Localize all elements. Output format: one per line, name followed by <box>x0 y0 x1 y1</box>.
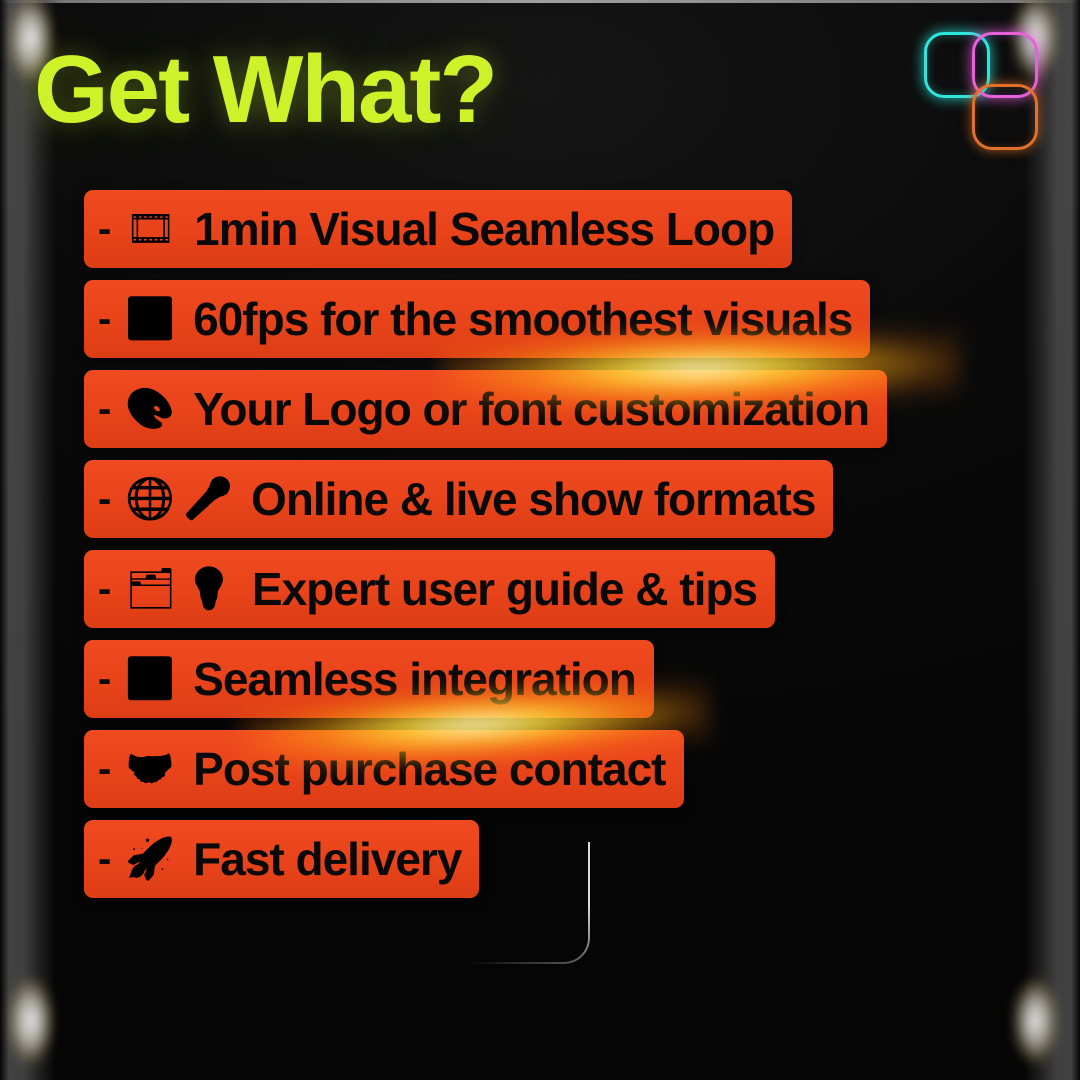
palette-icon: 🎨 <box>125 389 175 429</box>
film-strip-icon: 🎞 <box>125 209 176 249</box>
bullet-dash: - <box>98 209 111 249</box>
top-hairline <box>0 0 1080 3</box>
feature-row: -🎨Your Logo or font customization <box>84 370 887 448</box>
globe-icon: 🌐 <box>125 479 175 519</box>
feature-label: Post purchase contact <box>193 746 665 792</box>
bullet-dash: - <box>98 389 111 429</box>
feature-label: Seamless integration <box>193 656 636 702</box>
bullet-dash: - <box>98 299 111 339</box>
handshake-icon: 🤝 <box>125 749 175 789</box>
microphone-icon: 🎤 <box>183 479 233 519</box>
feature-row: -🌐🎤Online & live show formats <box>84 460 833 538</box>
bullet-dash: - <box>98 839 111 879</box>
feature-label: Fast delivery <box>193 836 461 882</box>
left-edge-strip <box>0 0 56 1080</box>
feature-label: 1min Visual Seamless Loop <box>194 206 774 252</box>
bullet-dash: - <box>98 749 111 789</box>
feature-row: -🗂💡Expert user guide & tips <box>84 550 775 628</box>
fast-forward-icon: ⏩ <box>125 299 175 339</box>
corner-glow-bottom-right <box>1012 978 1058 1064</box>
feature-row: -🤝Post purchase contact <box>84 730 684 808</box>
poster-canvas: Get What? -🎞1min Visual Seamless Loop-⏩6… <box>0 0 1080 1080</box>
feature-row: -🔀Seamless integration <box>84 640 654 718</box>
bullet-dash: - <box>98 659 111 699</box>
feature-label: Expert user guide & tips <box>252 566 757 612</box>
corner-glow-bottom-left <box>8 978 54 1064</box>
bullet-dash: - <box>98 569 111 609</box>
feature-label: 60fps for the smoothest visuals <box>193 296 852 342</box>
ring-orange-icon <box>972 84 1038 150</box>
feature-row: -⏩60fps for the smoothest visuals <box>84 280 870 358</box>
shuffle-icon: 🔀 <box>125 659 175 699</box>
card-stack-icon: 🗂 <box>125 569 176 609</box>
page-title: Get What? <box>34 42 496 138</box>
rocket-icon: 🚀 <box>125 839 175 879</box>
bulb-icon: 💡 <box>184 569 234 609</box>
feature-row: -🎞1min Visual Seamless Loop <box>84 190 792 268</box>
feature-list: -🎞1min Visual Seamless Loop-⏩60fps for t… <box>84 190 1024 910</box>
feature-label: Your Logo or font customization <box>193 386 869 432</box>
feature-label: Online & live show formats <box>251 476 815 522</box>
feature-row: -🚀Fast delivery <box>84 820 479 898</box>
three-rings-logo <box>924 26 1054 158</box>
right-edge-strip <box>1024 0 1080 1080</box>
bullet-dash: - <box>98 479 111 519</box>
